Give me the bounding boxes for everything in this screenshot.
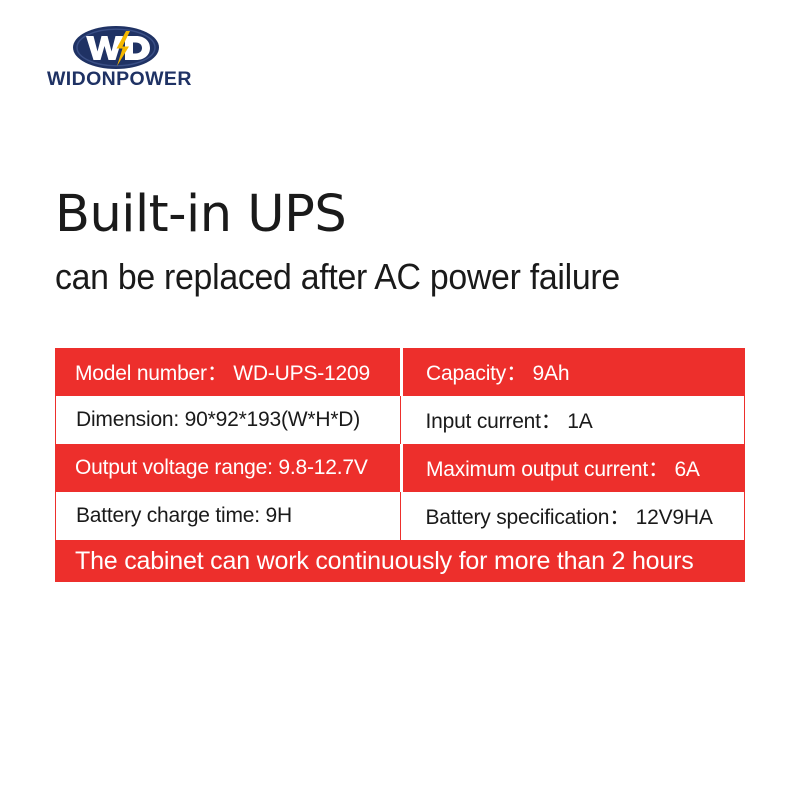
- page-title: Built-in UPS: [55, 186, 346, 244]
- spec-dimension: Dimension: 90*92*193(W*H*D): [56, 396, 400, 444]
- brand-logo: WIDONPOWER: [47, 26, 277, 92]
- table-row: Battery charge time: 9H Battery specific…: [55, 492, 745, 540]
- table-footnote-row: The cabinet can work continuously for mo…: [55, 540, 745, 582]
- table-row: Output voltage range: 9.8-12.7V Maximum …: [55, 444, 745, 492]
- spec-battery-specification: Battery specification： 12V9HA: [400, 492, 744, 540]
- table-row: Dimension: 90*92*193(W*H*D) Input curren…: [55, 396, 745, 444]
- wd-logo-icon: [73, 26, 159, 69]
- spec-table: Model number： WD-UPS-1209 Capacity： 9Ah …: [55, 348, 745, 582]
- spec-capacity: Capacity： 9Ah: [400, 348, 745, 396]
- runtime-note: The cabinet can work continuously for mo…: [75, 547, 694, 576]
- spec-output-voltage-range: Output voltage range: 9.8-12.7V: [55, 444, 400, 492]
- spec-model-number: Model number： WD-UPS-1209: [55, 348, 400, 396]
- page-subtitle: can be replaced after AC power failure: [55, 255, 620, 299]
- brand-wordmark: WIDONPOWER: [47, 68, 192, 91]
- table-row: Model number： WD-UPS-1209 Capacity： 9Ah: [55, 348, 745, 396]
- spec-battery-charge-time: Battery charge time: 9H: [56, 492, 400, 540]
- spec-input-current: Input current： 1A: [400, 396, 744, 444]
- spec-max-output-current: Maximum output current： 6A: [400, 444, 745, 492]
